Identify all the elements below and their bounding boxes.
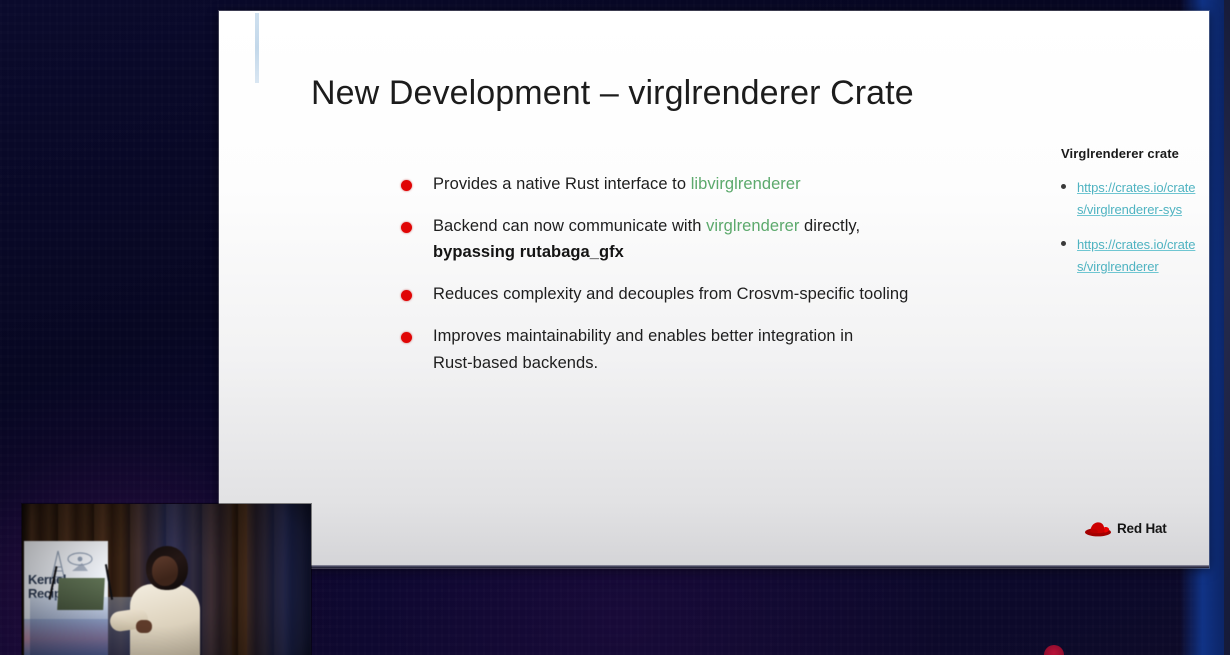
bullet-dot-icon bbox=[401, 290, 412, 301]
bullet-dot-icon bbox=[401, 332, 412, 343]
bullet-item: Reduces complexity and decouples from Cr… bbox=[391, 281, 1011, 308]
bullet-item: Improves maintainability and enables bet… bbox=[391, 323, 1011, 376]
bullet-text-line: Rust-based backends. bbox=[433, 350, 1011, 377]
red-hat-fedora-icon bbox=[1084, 519, 1112, 537]
bullet-text-line: Improves maintainability and enables bet… bbox=[433, 323, 1011, 350]
bullet-text-line: Provides a native Rust interface to libv… bbox=[433, 171, 1011, 198]
red-hat-logo: Red Hat bbox=[1084, 519, 1167, 537]
slide-accent-bar bbox=[255, 13, 259, 83]
reference-link-column: Virglrenderer crate https://crates.io/cr… bbox=[1029, 146, 1199, 290]
slide-title: New Development – virglrenderer Crate bbox=[311, 73, 1131, 114]
screen-capture: New Development – virglrenderer Crate Pr… bbox=[0, 0, 1230, 655]
bullet-dot-icon bbox=[401, 222, 412, 233]
slide-bottom-edge bbox=[219, 565, 1209, 568]
slide-bullet-list: Provides a native Rust interface to libv… bbox=[391, 171, 1011, 391]
screen-right-edge bbox=[1224, 0, 1230, 655]
bullet-item: Provides a native Rust interface to libv… bbox=[391, 171, 1011, 198]
bullet-text-line: Backend can now communicate with virglre… bbox=[433, 213, 1011, 240]
reference-column-title: Virglrenderer crate bbox=[1041, 146, 1199, 161]
reference-link-item: https://crates.io/crates/virglrenderer bbox=[1029, 234, 1199, 279]
bullet-text-run: Provides a native Rust interface to bbox=[433, 175, 691, 193]
red-hat-wordmark: Red Hat bbox=[1117, 521, 1167, 536]
bullet-text-run: Backend can now communicate with bbox=[433, 217, 706, 235]
bullet-keyword-run: libvirglrenderer bbox=[691, 175, 801, 193]
bullet-item: Backend can now communicate with virglre… bbox=[391, 213, 1011, 266]
bullet-text-line: Reduces complexity and decouples from Cr… bbox=[433, 281, 1011, 308]
crate-link-virglrenderer-sys[interactable]: https://crates.io/crates/virglrenderer-s… bbox=[1077, 177, 1199, 222]
bullet-text-run: directly, bbox=[799, 217, 860, 235]
speaker-video-overlay[interactable]: Kernel Recipes bbox=[22, 504, 311, 655]
bullet-text-line-bold: bypassing rutabaga_gfx bbox=[433, 239, 1011, 266]
reference-link-item: https://crates.io/crates/virglrenderer-s… bbox=[1029, 177, 1199, 222]
video-blur-layer bbox=[22, 504, 311, 655]
bullet-keyword-run: virglrenderer bbox=[706, 217, 799, 235]
presentation-slide: New Development – virglrenderer Crate Pr… bbox=[219, 11, 1209, 568]
crate-link-virglrenderer[interactable]: https://crates.io/crates/virglrenderer bbox=[1077, 234, 1199, 279]
list-bullet-icon bbox=[1061, 184, 1066, 189]
bullet-dot-icon bbox=[401, 180, 412, 191]
list-bullet-icon bbox=[1061, 241, 1066, 246]
